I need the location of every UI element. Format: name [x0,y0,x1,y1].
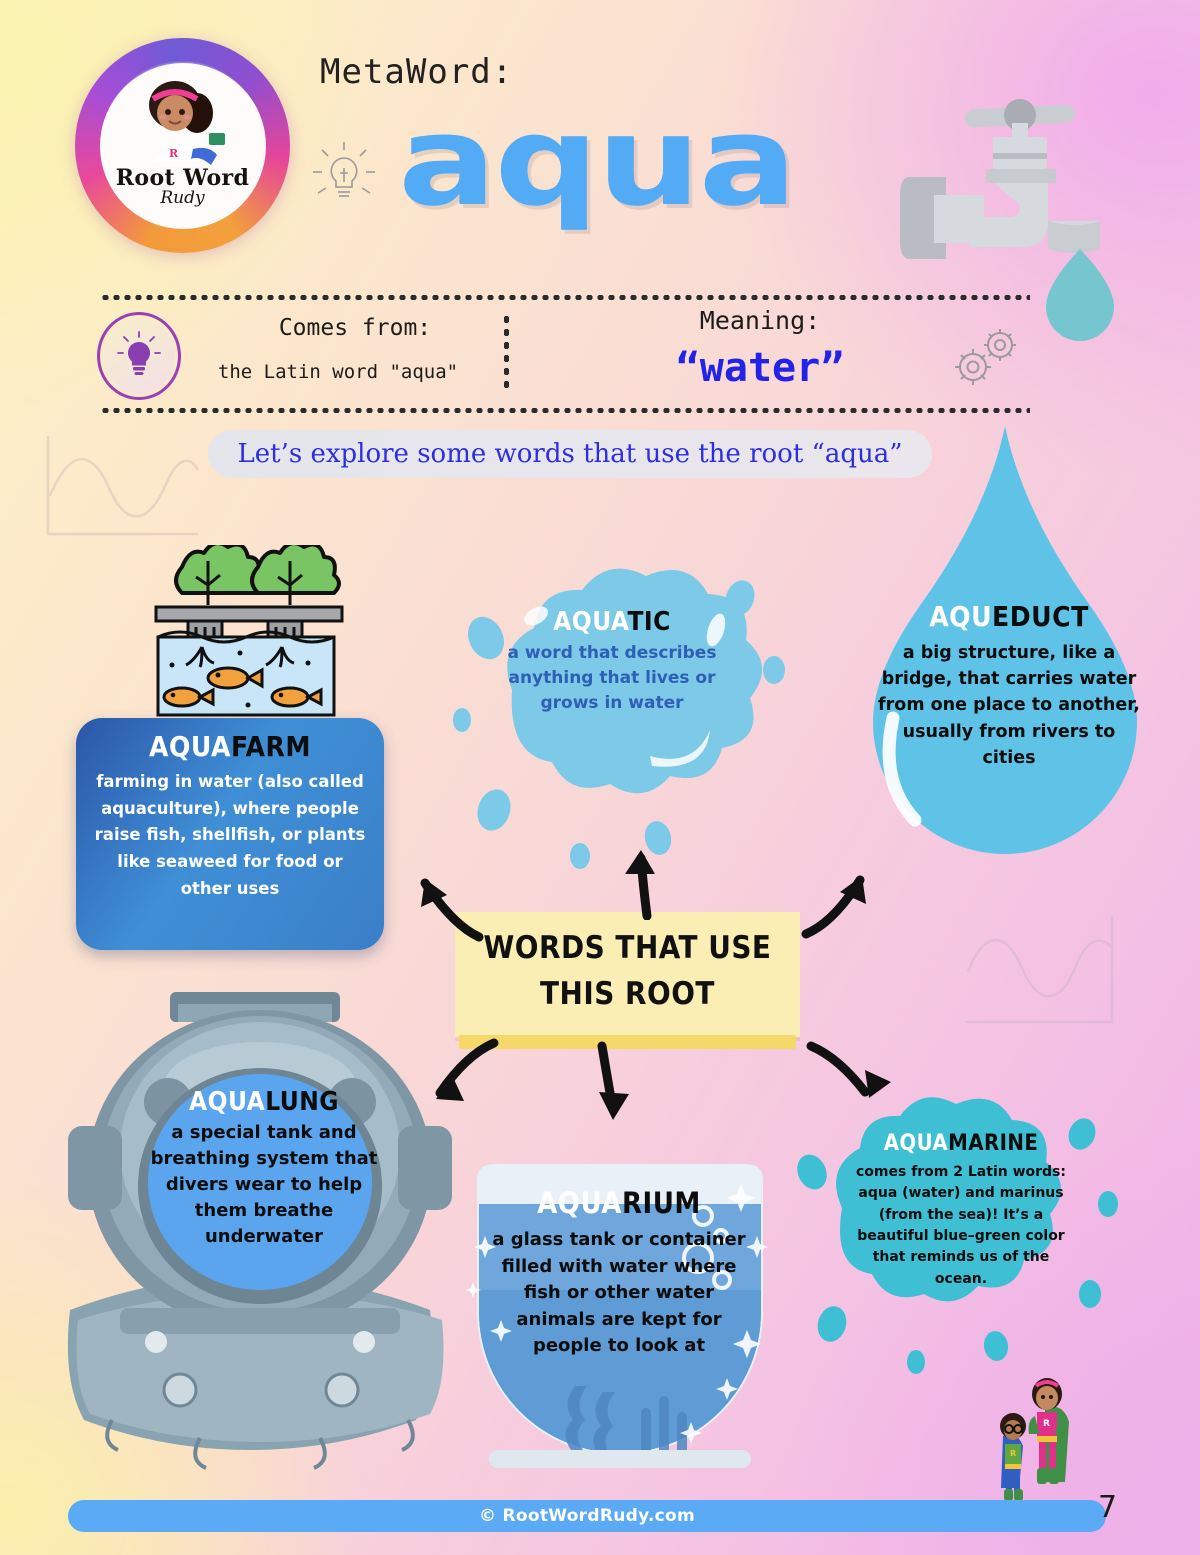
word-block-aquarium[interactable]: AQUARIUM a glass tank or container fille… [483,1188,755,1360]
word-root-aqualung: AQUA [189,1087,265,1117]
info-strip: Comes from: the Latin word "aqua" Meanin… [100,295,1030,413]
wave-line-art-right [960,910,1130,1030]
explore-banner-text: Let’s explore some words that use the ro… [237,439,902,469]
word-block-aquamarine[interactable]: AQUAMARINE comes from 2 Latin words: aqu… [855,1132,1067,1290]
word-definition-aquatic: a word that describes anything that live… [502,641,722,716]
lightbulb-filled-icon [116,331,162,381]
superhero-mascots-icon: R R [985,1372,1095,1512]
word-definition-aqualung: a special tank and breathing system that… [150,1120,378,1250]
word-rest-aquatic: TIC [627,607,670,637]
word-root-aqueduct: AQU [929,600,992,633]
arrow-to-aquarium [580,1040,644,1130]
wave-line-art-left [40,430,200,540]
dotted-divider-top [100,295,1030,300]
meaning-value: “water” [540,345,980,391]
center-note: WORDS THAT USE THIS ROOT [455,912,800,1037]
word-definition-aquamarine: comes from 2 Latin words: aqua (water) a… [855,1162,1067,1290]
word-block-aquatic[interactable]: AQUATIC a word that describes anything t… [502,608,722,716]
word-block-aqualung[interactable]: AQUALUNG a special tank and breathing sy… [150,1088,378,1250]
word-rest-aquafarm: FARM [231,730,311,763]
footer-credit: © RootWordRudy.com [479,1506,695,1526]
word-definition-aquafarm: farming in water (also called aquacultur… [90,769,370,903]
root-word-title: aqua [398,100,795,224]
svg-text:R: R [169,147,179,160]
word-card-aquafarm[interactable]: AQUAFARM farming in water (also called a… [76,718,384,950]
dotted-divider-vertical [504,313,509,393]
comes-from-label: Comes from: [210,315,500,341]
metaword-label: MetaWord: [320,52,513,92]
word-title-aquatic: AQUATIC [502,608,722,637]
page-number: 7 [1098,1490,1117,1525]
word-title-aqueduct: AQUEDUCT [878,602,1140,633]
logo-inner: R Root Word Rudy [100,63,266,229]
svg-text:R: R [1043,1419,1050,1429]
word-title-aqualung: AQUALUNG [150,1088,378,1117]
word-title-aquamarine: AQUAMARINE [855,1132,1067,1156]
word-root-aquatic: AQUA [553,607,627,637]
word-root-aquarium: AQUA [537,1186,622,1220]
word-definition-aqueduct: a big structure, like a bridge, that car… [878,640,1140,771]
footer-bar: © RootWordRudy.com [68,1500,1106,1532]
center-note-line1: WORDS THAT USE [455,912,800,970]
hydroponic-fish-tank-icon [140,545,355,735]
word-rest-aqueduct: EDUCT [992,600,1089,633]
logo-text-secondary: Rudy [160,190,204,207]
word-definition-aquarium: a glass tank or container filled with wa… [483,1227,755,1360]
gears-icon [940,323,1030,393]
svg-text:R: R [1010,1449,1016,1458]
center-note-line2: THIS ROOT [455,970,800,1016]
word-rest-aquamarine: MARINE [948,1131,1038,1156]
word-rest-aquarium: RIUM [622,1186,701,1220]
lightbulb-icon [308,140,380,212]
word-title-aquarium: AQUARIUM [483,1188,755,1220]
dotted-divider-bottom [100,408,1030,413]
word-title-aquafarm: AQUAFARM [90,732,370,763]
infographic-page: R Root Word Rudy MetaWord: aqua [0,0,1200,1555]
comes-from-value: the Latin word "aqua" [178,361,498,383]
word-root-aquamarine: AQUA [884,1131,948,1156]
word-rest-aqualung: LUNG [265,1087,339,1117]
idea-badge [100,315,178,397]
word-block-aqueduct[interactable]: AQUEDUCT a big structure, like a bridge,… [878,602,1140,771]
logo-badge: R Root Word Rudy [75,38,290,253]
word-root-aquafarm: AQUA [149,730,231,763]
explore-banner: Let’s explore some words that use the ro… [208,430,932,478]
rudy-character-icon: R [123,79,243,171]
meaning-label: Meaning: [540,306,980,335]
